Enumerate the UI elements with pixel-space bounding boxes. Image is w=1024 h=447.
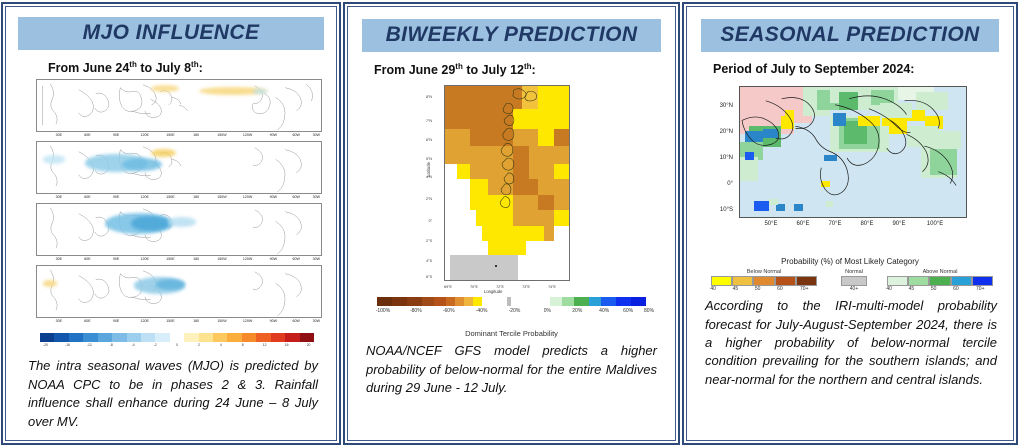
mjo-xaxis-3: 30E60E90E 120E150E180 150W120W90W 60W30W [36,257,322,265]
anomaly-blob [122,158,162,171]
biweekly-map: Latitude 8°N 7°N 6°N 5°N 4°N 2°N 0° 2°S … [348,81,675,293]
tercile-colorbar-title: Dominant Tercile Probability [348,329,675,338]
anomaly-blob [43,155,66,163]
seasonal-period-label: Period of July to September 2024: [687,62,1013,76]
seasonal-caption: According to the IRI-multi-model probabi… [705,297,997,389]
seasonal-plot-area [739,86,967,218]
mjo-colorbar [40,333,314,342]
biweekly-caption: NOAA/NCEF GFS model predicts a higher pr… [366,342,657,397]
biweekly-xaxis-title: Longitude [484,289,502,294]
mjo-caption: The intra seasonal waves (MJO) is predic… [28,357,318,431]
seasonal-legend-title: Probability (%) of Most Likely Category [695,257,1005,266]
legend-group-above-normal: Above Normal 404550 6070+ [887,269,993,294]
legend-group-below-normal: Below Normal 404550 6070+ [711,269,817,294]
panel-seasonal-prediction: SEASONAL PREDICTION Period of July to Se… [686,6,1014,441]
mjo-xaxis-1: 30E60E90E 120E150E180 150W120W90W 60W30W [36,133,322,141]
mjo-map-2 [36,141,322,194]
anomaly-blob [168,217,196,226]
mjo-xaxis-4: 30E60E90E 120E150E180 150W120W90W 60W30W [36,319,322,327]
coastline-1 [37,80,321,131]
panel-biweekly-prediction: BIWEEKLY PREDICTION From June 29th to Ju… [347,6,676,441]
coastline-3 [37,204,321,255]
coastline-4 [37,266,321,317]
panel-title-biweekly: BIWEEKLY PREDICTION [362,19,661,52]
mjo-colorbar-ticks: -20-16-12 -8-4-2 024 81216 20 [40,343,314,351]
panel-title-seasonal: SEASONAL PREDICTION [701,19,999,52]
biweekly-plot-area [444,85,570,281]
mjo-period-label: From June 24th to July 8th: [6,60,336,75]
seasonal-map: 30°N 20°N 10°N 0° 10°S [687,80,1013,255]
mjo-map-stack: 30E60E90E 120E150E180 150W120W90W 60W30W [36,79,322,327]
panel-title-mjo: MJO INFLUENCE [18,17,324,50]
mjo-map-4 [36,265,322,318]
panel-mjo-influence: MJO INFLUENCE From June 24th to July 8th… [5,6,337,441]
mjo-map-3 [36,203,322,256]
mjo-map-1 [36,79,322,132]
coastline-2 [37,142,321,193]
biweekly-period-label: From June 29th to July 12th: [348,62,675,77]
legend-group-normal: Normal 40+ [841,269,867,294]
mjo-xaxis-2: 30E60E90E 120E150E180 150W120W90W 60W30W [36,195,322,203]
anomaly-blob [43,280,57,286]
forecast-bulletin: MJO INFLUENCE From June 24th to July 8th… [0,0,1024,447]
seasonal-legend: Probability (%) of Most Likely Category … [695,257,1005,295]
tercile-colorbar: -100% -80% -60% -40% -20% 0% 20% 40% 60%… [362,297,661,319]
anomaly-blob [131,216,171,230]
anomaly-blob [156,279,184,289]
